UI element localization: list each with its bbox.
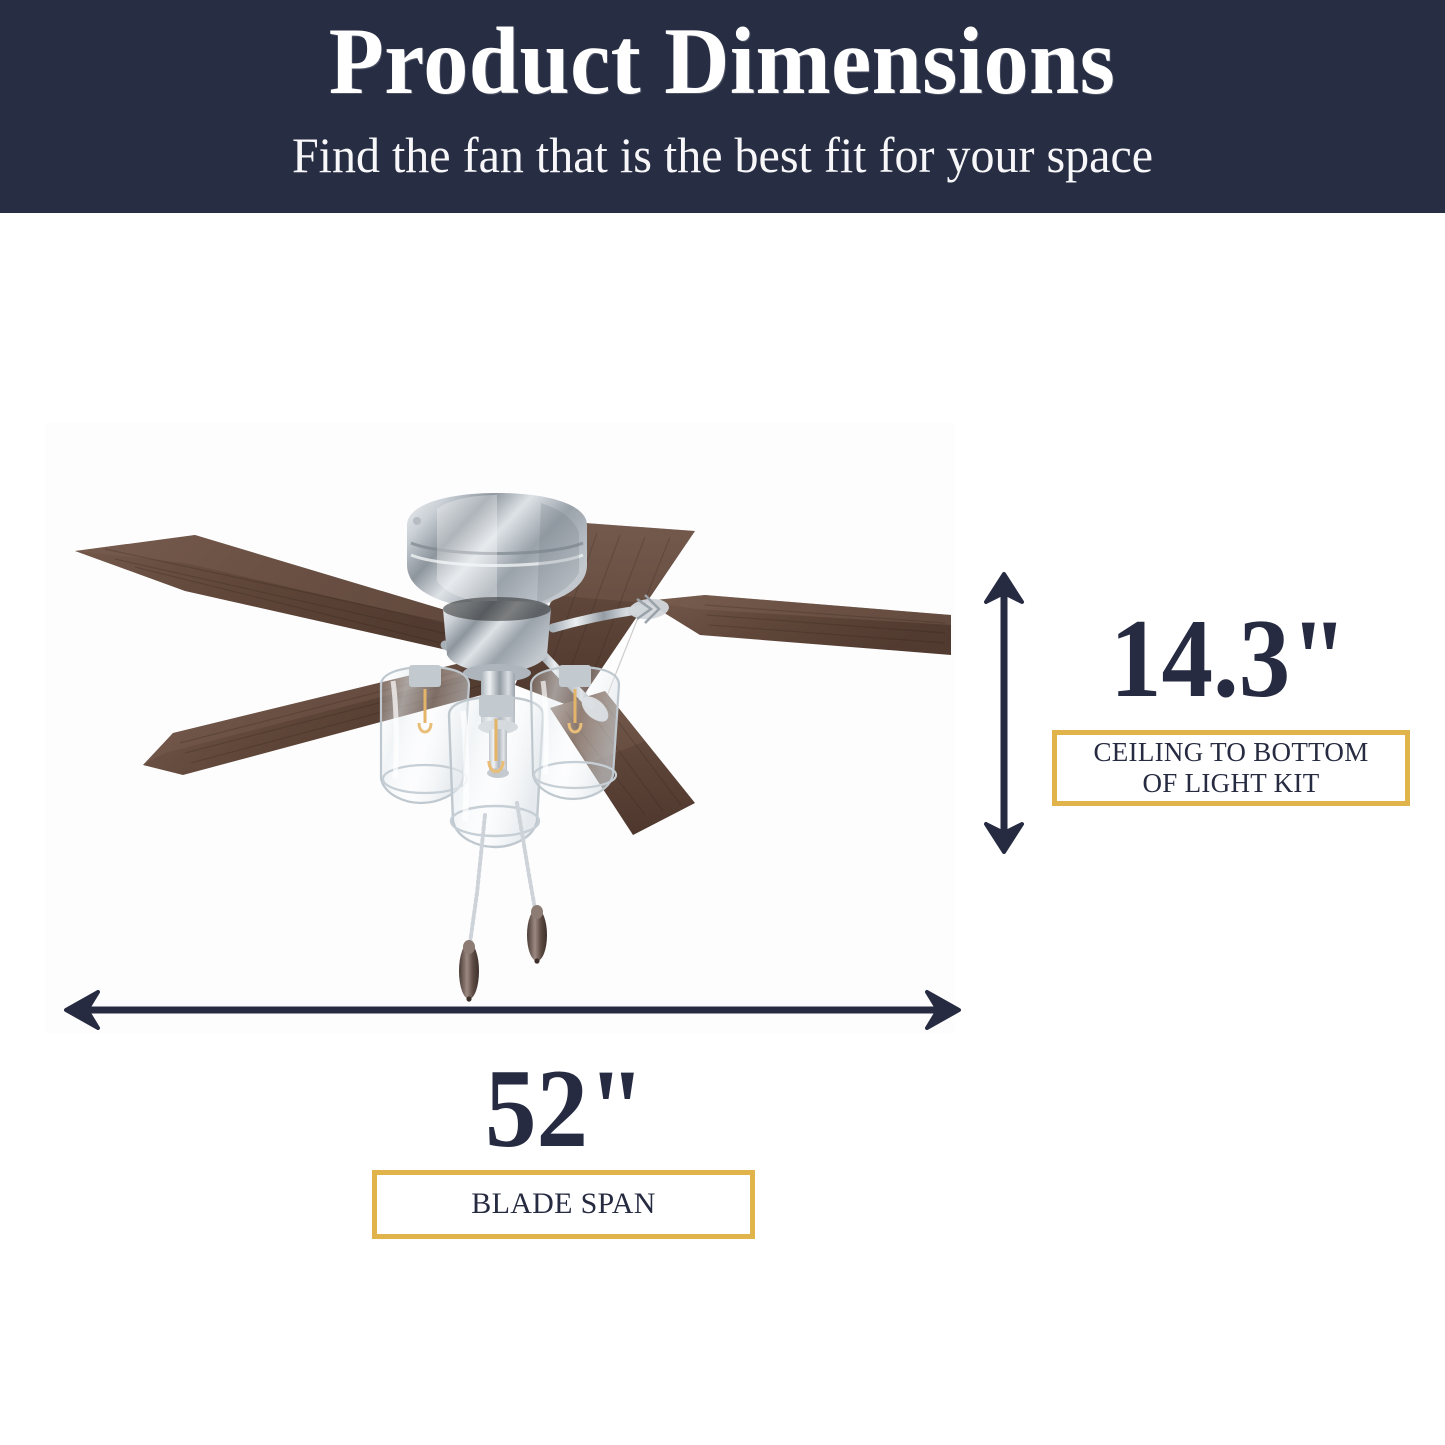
page-header: Product Dimensions Find the fan that is … [0,0,1445,213]
height-caption-box: CEILING TO BOTTOM OF LIGHT KIT [1052,730,1410,806]
diagram-canvas: 14.3" CEILING TO BOTTOM OF LIGHT KIT 52"… [0,213,1445,1445]
page-title: Product Dimensions [329,14,1116,109]
fan-blade-right [645,595,951,655]
blade-span-caption-box: BLADE SPAN [372,1170,755,1239]
height-caption-line2: OF LIGHT KIT [1142,768,1319,798]
blade-span-caption-text: BLADE SPAN [471,1187,655,1222]
page-subtitle: Find the fan that is the best fit for yo… [292,130,1153,180]
height-dimension-value: 14.3" [1110,603,1348,715]
glass-shade-center [449,695,543,847]
height-caption-text: CEILING TO BOTTOM OF LIGHT KIT [1093,737,1368,799]
ceiling-fan-image [45,423,955,1033]
height-caption-line1: CEILING TO BOTTOM [1093,737,1368,767]
blade-span-dimension-arrow [60,983,965,1039]
blade-span-dimension-value: 52" [485,1053,645,1165]
light-kit [381,665,619,847]
glass-shade-right [531,665,619,799]
height-dimension-arrow [975,568,1035,858]
